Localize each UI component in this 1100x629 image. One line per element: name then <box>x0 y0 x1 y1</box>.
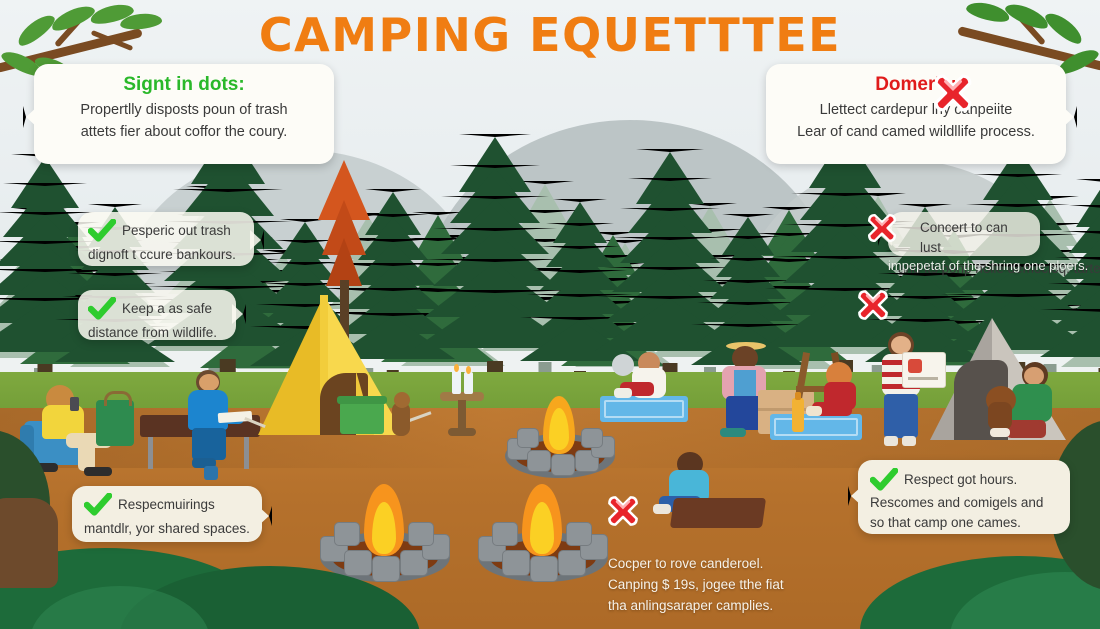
rock-outcrop-left <box>0 498 58 588</box>
tip-wildlife-card: Keep a as safe distance from wildlife. <box>78 290 236 340</box>
camper-at-table <box>186 370 246 475</box>
donts-card: Domer's: Llettect cardepur lhy canpeiite… <box>766 64 1066 164</box>
dos-card: Signt in dots: Propertlly disposts poun … <box>34 64 334 164</box>
dos-card-line-2: attets fier about coffor the coury. <box>50 122 318 144</box>
tip-wildlife-line-2: distance from wildlife. <box>88 323 226 343</box>
tip-quiet-hours-card: Respect got hours. Rescomes and comigels… <box>858 460 1070 534</box>
cooler-bag <box>96 400 134 446</box>
red-cross-icon-site <box>856 288 890 322</box>
tip-quiet-line-2: Rescomes and comigels and <box>870 493 1058 513</box>
tip-wildlife-line-1: Keep a as safe <box>122 299 212 319</box>
donts-card-line-1: Llettect cardepur lhy canpeiite <box>782 100 1050 122</box>
tip-shared-spaces-card: Respecmuirings mantdlr, yor shared space… <box>72 486 262 542</box>
log-seat <box>670 498 766 528</box>
tip-quiet-line-3: so that camp one cames. <box>870 513 1058 533</box>
dos-card-line-1: Propertlly disposts poun of trash <box>50 100 318 122</box>
donts-card-line-2: Lear of cand camed wildllife process. <box>782 122 1050 144</box>
green-check-icon-shared <box>84 493 112 517</box>
green-check-icon-quiet <box>870 468 898 492</box>
lantern-table <box>440 368 484 438</box>
dirt-caption-line-2: Canping $ 19s, jogee tthe fiat <box>608 575 828 596</box>
dirt-caption: Cocper to rove canderoel. Canping $ 19s,… <box>608 554 828 617</box>
red-cross-icon-donts <box>932 72 974 114</box>
tip-trash-line-1: Pesperic out trash <box>122 221 231 241</box>
standing-camper <box>872 332 928 454</box>
camper-on-blanket-right <box>812 362 872 420</box>
dos-card-heading: Signt in dots: <box>50 74 318 96</box>
tip-shared-line-2: mantdlr, yor shared spaces. <box>84 519 250 539</box>
warn-noise-line-3: impepetaf of the shring one ploers. <box>888 256 1098 276</box>
dirt-caption-line-3: tha anlingsaraper camplies. <box>608 596 828 617</box>
tip-shared-line-1: Respecmuirings <box>118 495 215 515</box>
green-check-icon-wildlife <box>88 297 116 321</box>
drink-bottle <box>792 398 804 432</box>
green-storage-box <box>340 402 384 434</box>
green-check-icon-trash <box>88 219 116 243</box>
donts-card-heading: Domer's: <box>782 74 1050 96</box>
campfire-right <box>478 488 608 583</box>
campfire-center <box>505 398 615 478</box>
camping-etiquette-poster: CAMPING EQUETTTEE Signt in dots: Propert… <box>0 0 1100 629</box>
red-cross-icon-caption <box>606 494 640 528</box>
red-cross-icon-noise <box>866 212 898 244</box>
tip-trash-line-2: dignoft t ccure bankours. <box>88 245 244 265</box>
dog-in-tent <box>386 392 416 436</box>
dirt-caption-line-1: Cocper to rove canderoel. <box>608 554 828 575</box>
warn-noise-card: Concert to can lust and its ponp holle d… <box>888 212 1040 256</box>
campers-on-blanket-left <box>612 352 682 402</box>
tip-quiet-line-1: Respect got hours. <box>904 470 1017 490</box>
warn-noise-line-1: Concert to can lust <box>920 218 1030 259</box>
tip-trash-card: Pesperic out trash dignoft t ccure banko… <box>78 212 254 266</box>
camper-with-dog <box>986 362 1062 440</box>
campfire-left <box>320 488 450 583</box>
page-title: CAMPING EQUETTTEE <box>0 8 1100 62</box>
